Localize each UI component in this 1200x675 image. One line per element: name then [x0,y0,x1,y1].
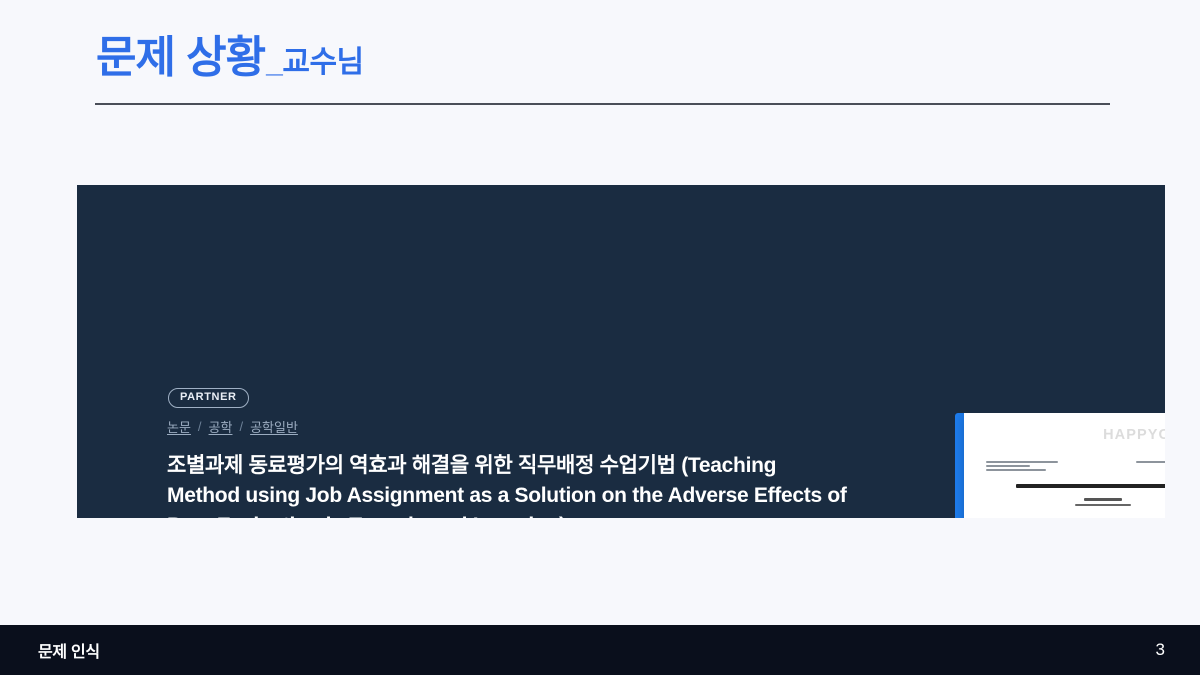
document-heading-korean [1016,484,1165,488]
journal-header-right [1136,461,1165,471]
page-title-sub: _교수님 [266,48,364,78]
journal-line [986,465,1030,467]
breadcrumb: 논문 / 공학 / 공학일반 [167,417,298,436]
document-body [986,461,1165,518]
document-page: HAPPYCAMPUS [964,413,1165,518]
breadcrumb-item-0[interactable]: 논문 [167,417,191,436]
page-title-main: 문제 상황 [96,36,265,80]
watermark-happycampus: HAPPYCAMPUS [1103,427,1165,443]
journal-line [1136,461,1165,463]
document-preview[interactable]: HAPPYCAMPUS [955,413,1165,518]
page-title: 문제 상황 _교수님 [96,36,364,80]
document-author-korean [1084,498,1121,501]
footer-bar: 문제 인식 3 [0,625,1200,675]
status-badge-partner: PARTNER [168,388,249,408]
breadcrumb-item-1[interactable]: 공학 [209,417,233,436]
title-divider [95,103,1110,105]
document-card[interactable]: PARTNER 논문 / 공학 / 공학일반 조별과제 동료평가의 역효과 해결… [77,185,1165,518]
document-spine [955,413,964,518]
journal-header [986,461,1165,471]
journal-header-left [986,461,1058,471]
breadcrumb-separator: / [198,419,202,434]
slide: 문제 상황 _교수님 PARTNER 논문 / 공학 / 공학일반 조별과제 동… [0,0,1200,675]
footer-section-label: 문제 인식 [38,638,100,662]
breadcrumb-item-2[interactable]: 공학일반 [250,417,298,436]
footer-page-number: 3 [1156,640,1165,660]
journal-line [986,469,1046,471]
document-title[interactable]: 조별과제 동료평가의 역효과 해결을 위한 직무배정 수업기법 (Teachin… [167,451,847,518]
breadcrumb-separator: / [239,419,243,434]
journal-line [986,461,1058,463]
document-affiliation-korean [1075,504,1131,507]
